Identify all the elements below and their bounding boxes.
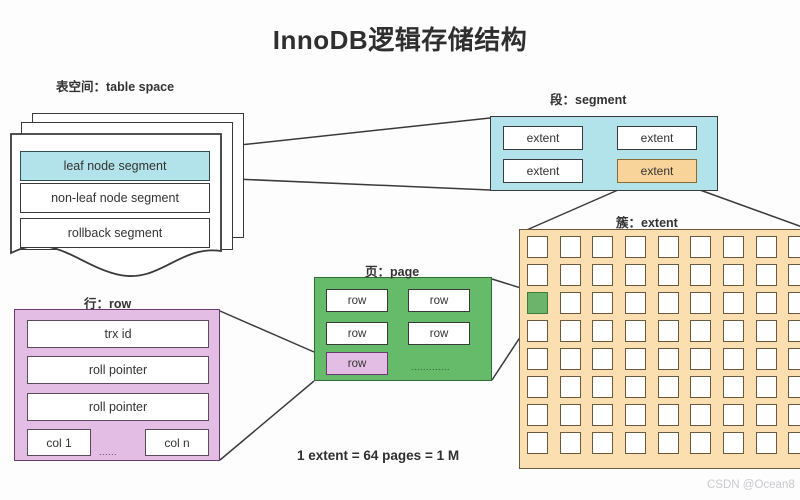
segment-extent-cell-highlighted[interactable]: extent [617, 159, 697, 183]
extent-page-cell[interactable] [592, 292, 613, 314]
extent-page-cell[interactable] [658, 320, 679, 342]
extent-page-cell[interactable] [560, 432, 581, 454]
extent-page-cell[interactable] [592, 348, 613, 370]
extent-page-cell[interactable] [625, 348, 646, 370]
extent-page-cell[interactable] [625, 292, 646, 314]
page-row-cell[interactable]: row [326, 289, 388, 312]
extent-page-cell[interactable] [527, 320, 548, 342]
extent-page-cell[interactable] [560, 404, 581, 426]
extent-page-cell[interactable] [690, 264, 711, 286]
row-field-roll-pointer-2[interactable]: roll pointer [27, 393, 209, 421]
segment-non-leaf-node[interactable]: non-leaf node segment [20, 183, 210, 213]
segment-extent-cell[interactable]: extent [503, 159, 583, 183]
extent-page-cell[interactable] [723, 348, 744, 370]
extent-page-cell[interactable] [658, 404, 679, 426]
extent-page-cell[interactable] [723, 264, 744, 286]
extent-page-cell[interactable] [788, 236, 800, 258]
extent-page-cell[interactable] [592, 432, 613, 454]
extent-page-cell[interactable] [560, 376, 581, 398]
segment-extent-cell[interactable]: extent [617, 126, 697, 150]
caption-row: 行：row [84, 293, 131, 312]
extent-box[interactable] [519, 229, 800, 469]
extent-page-cell[interactable] [756, 320, 777, 342]
extent-page-cell[interactable] [658, 292, 679, 314]
row-field-roll-pointer-1[interactable]: roll pointer [27, 356, 209, 384]
page-rows-ellipsis: ............. [411, 362, 450, 372]
extent-page-cell[interactable] [527, 264, 548, 286]
extent-page-cell[interactable] [527, 348, 548, 370]
segment-extent-cell[interactable]: extent [503, 126, 583, 150]
segment-rollback[interactable]: rollback segment [20, 218, 210, 248]
extent-page-cell[interactable] [788, 264, 800, 286]
extent-page-cell[interactable] [560, 292, 581, 314]
page-row-cell[interactable]: row [408, 322, 470, 345]
extent-page-cell[interactable] [625, 376, 646, 398]
diagram-canvas: InnoDB逻辑存储结构 表空间：table space leaf node s… [0, 0, 800, 500]
extent-page-cell[interactable] [658, 264, 679, 286]
extent-page-cell[interactable] [723, 320, 744, 342]
page-row-cell-highlighted[interactable]: row [326, 352, 388, 375]
extent-page-cell[interactable] [625, 404, 646, 426]
extent-page-cell-highlighted[interactable] [527, 292, 548, 314]
extent-page-cell[interactable] [625, 236, 646, 258]
extent-page-cell[interactable] [527, 404, 548, 426]
extent-page-cell[interactable] [788, 432, 800, 454]
caption-segment: 段：segment [550, 89, 626, 108]
extent-page-cell[interactable] [788, 348, 800, 370]
extent-page-cell[interactable] [658, 432, 679, 454]
watermark: CSDN @Ocean8 [707, 479, 795, 491]
extent-page-cell[interactable] [690, 348, 711, 370]
page-row-cell[interactable]: row [326, 322, 388, 345]
extent-page-cell[interactable] [788, 404, 800, 426]
extent-page-cell[interactable] [723, 236, 744, 258]
extent-page-cell[interactable] [756, 432, 777, 454]
extent-size-formula: 1 extent = 64 pages = 1 M [297, 448, 459, 463]
extent-page-cell[interactable] [658, 348, 679, 370]
wire-page-row-top [220, 311, 314, 352]
wire-segment-extent-left [522, 190, 618, 232]
extent-page-cell[interactable] [625, 264, 646, 286]
extent-page-cell[interactable] [788, 320, 800, 342]
row-column-last[interactable]: col n [145, 429, 209, 456]
extent-page-grid [527, 236, 800, 456]
caption-table-space: 表空间：table space [56, 76, 174, 95]
segment-box[interactable]: extent extent extent extent [490, 116, 718, 191]
caption-page: 页：page [365, 261, 419, 280]
table-space-sheet-front[interactable]: leaf node segment non-leaf node segment … [10, 133, 222, 278]
extent-page-cell[interactable] [527, 376, 548, 398]
extent-page-cell[interactable] [690, 404, 711, 426]
extent-page-cell[interactable] [690, 376, 711, 398]
caption-extent: 簇：extent [616, 212, 678, 231]
page-title: InnoDB逻辑存储结构 [0, 20, 800, 57]
extent-page-cell[interactable] [788, 376, 800, 398]
row-column-first[interactable]: col 1 [27, 429, 91, 456]
page-box[interactable]: row row row row row ............. [314, 277, 492, 381]
wire-segment-extent-right [700, 190, 800, 232]
extent-page-cell[interactable] [658, 236, 679, 258]
extent-page-cell[interactable] [690, 432, 711, 454]
extent-page-cell[interactable] [592, 320, 613, 342]
extent-page-cell[interactable] [788, 292, 800, 314]
extent-page-cell[interactable] [560, 236, 581, 258]
extent-page-cell[interactable] [592, 236, 613, 258]
extent-page-cell[interactable] [560, 264, 581, 286]
wire-tablespace-segment-top [212, 118, 490, 148]
extent-page-cell[interactable] [625, 320, 646, 342]
table-space-group[interactable]: leaf node segment non-leaf node segment … [10, 113, 240, 283]
extent-page-cell[interactable] [625, 432, 646, 454]
extent-page-cell[interactable] [560, 320, 581, 342]
row-box[interactable]: trx id roll pointer roll pointer col 1 .… [14, 309, 220, 461]
extent-page-cell[interactable] [592, 264, 613, 286]
extent-page-cell[interactable] [690, 236, 711, 258]
row-columns-ellipsis: ...... [99, 447, 117, 457]
extent-page-cell[interactable] [723, 432, 744, 454]
extent-page-cell[interactable] [723, 292, 744, 314]
extent-page-cell[interactable] [592, 376, 613, 398]
extent-page-cell[interactable] [723, 404, 744, 426]
segment-leaf-node[interactable]: leaf node segment [20, 151, 210, 181]
page-row-cell[interactable]: row [408, 289, 470, 312]
extent-page-cell[interactable] [756, 264, 777, 286]
extent-page-cell[interactable] [560, 348, 581, 370]
extent-page-cell[interactable] [756, 292, 777, 314]
extent-page-cell[interactable] [756, 348, 777, 370]
extent-page-cell[interactable] [527, 236, 548, 258]
extent-page-cell[interactable] [592, 404, 613, 426]
wire-tablespace-segment-bottom [212, 178, 490, 190]
extent-page-cell[interactable] [723, 376, 744, 398]
extent-page-cell[interactable] [527, 432, 548, 454]
extent-page-cell[interactable] [658, 376, 679, 398]
extent-page-cell[interactable] [690, 292, 711, 314]
extent-page-cell[interactable] [756, 236, 777, 258]
extent-page-cell[interactable] [690, 320, 711, 342]
extent-page-cell[interactable] [756, 376, 777, 398]
extent-page-cell[interactable] [756, 404, 777, 426]
row-field-trx-id[interactable]: trx id [27, 320, 209, 348]
